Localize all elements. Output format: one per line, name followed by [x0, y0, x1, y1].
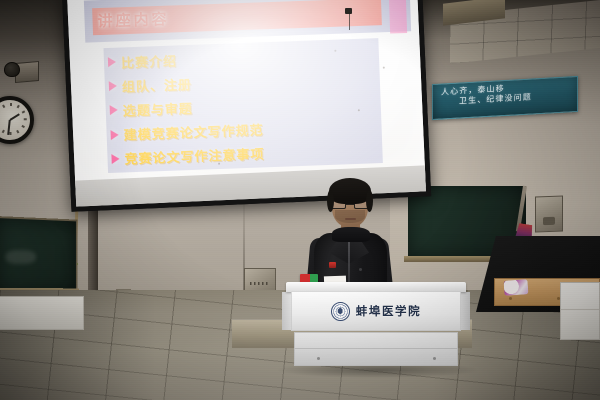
presenter-collar: [332, 227, 370, 242]
list-item: 竞赛论文写作注意事项: [111, 139, 408, 169]
electrical-box-knob: [543, 217, 555, 225]
presenter-hair-side: [366, 190, 373, 212]
podium: 蚌埠医学院: [286, 282, 466, 368]
bullet-marker-icon: [109, 105, 117, 115]
presenter-mouth: [345, 218, 356, 220]
lecture-hall-photo: 人心齐，泰山移 卫生、纪律没问题 讲座内容 比赛介绍: [0, 0, 600, 400]
bullet-label: 组队、注册: [121, 74, 192, 96]
white-cabinet-right: [560, 282, 600, 340]
screen-cable: [349, 12, 350, 30]
slide-title: 讲座内容: [97, 0, 269, 35]
podium-front-panel: 蚌埠医学院: [291, 291, 461, 331]
presenter-hair: [329, 178, 371, 204]
presenter-hair-side: [327, 190, 334, 212]
slide-accent-box: [388, 0, 406, 33]
clock-hour-hand: [9, 113, 19, 121]
chalk-smudge: [5, 250, 36, 264]
bullet-label: 选题与审题: [122, 98, 193, 120]
podium-base: [294, 332, 458, 366]
projected-slide: 讲座内容 比赛介绍 组队、注册 选题与审题: [67, 0, 426, 195]
electrical-box-right: [535, 196, 563, 233]
door-frame: [88, 196, 98, 300]
bullet-label: 比赛介绍: [120, 50, 177, 71]
jacket-button: [359, 268, 362, 271]
lapel-badge: [329, 262, 336, 268]
face-shading: [335, 210, 365, 223]
bullet-marker-icon: [108, 81, 116, 91]
bullet-marker-icon: [111, 154, 119, 164]
speaker-icon: [4, 62, 20, 77]
university-crest-icon: [331, 302, 350, 321]
bullet-marker-icon: [110, 129, 118, 139]
slide-bullet-list: 比赛介绍 组队、注册 选题与审题 建模竞赛论文写作规范: [107, 35, 408, 175]
podium-institution-label: 蚌埠医学院: [356, 303, 422, 319]
bullet-marker-icon: [107, 57, 115, 67]
chalkboard-left: [0, 216, 78, 298]
bullet-label: 竞赛论文写作注意事项: [124, 144, 265, 168]
vent-slots-icon: [250, 282, 270, 285]
desk-sticker: [504, 279, 529, 296]
bullet-label: 建模竞赛论文写作规范: [123, 120, 264, 144]
left-cabinet: [0, 296, 84, 330]
